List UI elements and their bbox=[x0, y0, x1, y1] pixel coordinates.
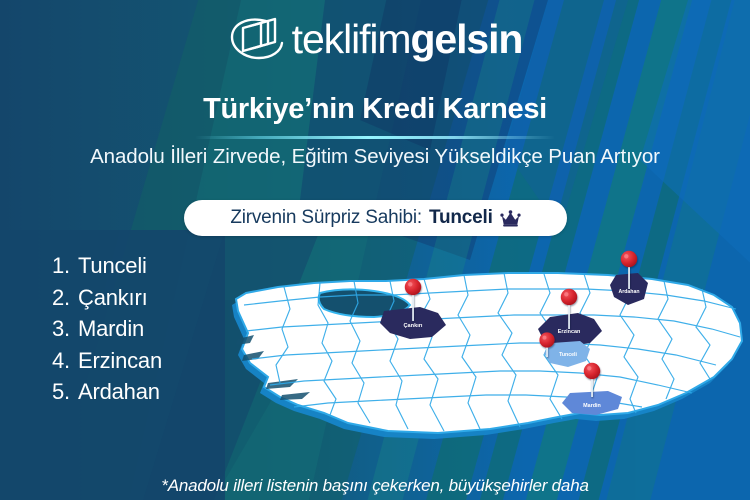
winner-badge: Zirvenin Sürpriz Sahibi: Tunceli bbox=[184, 200, 567, 236]
list-item: 1. Tunceli bbox=[52, 250, 162, 282]
list-item: 5. Ardahan bbox=[52, 376, 162, 408]
map-label-mardin: Mardin bbox=[583, 403, 601, 409]
rank-number: 2. bbox=[52, 282, 78, 314]
list-item: 2. Çankırı bbox=[52, 282, 162, 314]
brand-name-light: teklifim bbox=[292, 16, 411, 62]
rank-city-name: Çankırı bbox=[78, 282, 148, 314]
rank-city-name: Ardahan bbox=[78, 376, 160, 408]
rank-number: 1. bbox=[52, 250, 78, 282]
list-item: 4. Erzincan bbox=[52, 345, 162, 377]
rank-number: 5. bbox=[52, 376, 78, 408]
page-title: Türkiye’nin Kredi Karnesi bbox=[0, 93, 750, 126]
top-cities-ranking-list: 1. Tunceli 2. Çankırı 3. Mardin 4. Erzin… bbox=[52, 250, 162, 408]
rank-city-name: Tunceli bbox=[78, 250, 147, 282]
list-item: 3. Mardin bbox=[52, 313, 162, 345]
teklifimgelsin-swoosh-icon bbox=[228, 14, 284, 64]
turkey-map: Çankırı Ardahan Erzincan Tunceli Mardin bbox=[224, 243, 750, 458]
rank-number: 4. bbox=[52, 345, 78, 377]
map-label-tunceli: Tunceli bbox=[559, 352, 577, 358]
rank-city-name: Mardin bbox=[78, 313, 144, 345]
badge-city-label: Tunceli bbox=[429, 207, 493, 229]
brand-logo[interactable]: teklifimgelsin bbox=[0, 8, 750, 70]
rank-city-name: Erzincan bbox=[78, 345, 162, 377]
crown-icon bbox=[500, 210, 521, 227]
map-label-ardahan: Ardahan bbox=[618, 289, 639, 295]
page-subtitle: Anadolu İlleri Zirvede, Eğitim Seviyesi … bbox=[0, 145, 750, 169]
map-label-cankiri: Çankırı bbox=[404, 323, 423, 329]
turkey-map-svg: Çankırı Ardahan Erzincan Tunceli Mardin bbox=[224, 243, 750, 458]
rank-number: 3. bbox=[52, 313, 78, 345]
brand-wordmark: teklifimgelsin bbox=[292, 19, 523, 60]
map-label-erzincan: Erzincan bbox=[558, 329, 580, 335]
footnote-text: *Anadolu illeri listenin başını çekerken… bbox=[0, 476, 750, 496]
title-divider bbox=[195, 136, 555, 139]
badge-prefix-label: Zirvenin Sürpriz Sahibi: bbox=[230, 207, 422, 229]
brand-name-bold: gelsin bbox=[410, 16, 522, 62]
